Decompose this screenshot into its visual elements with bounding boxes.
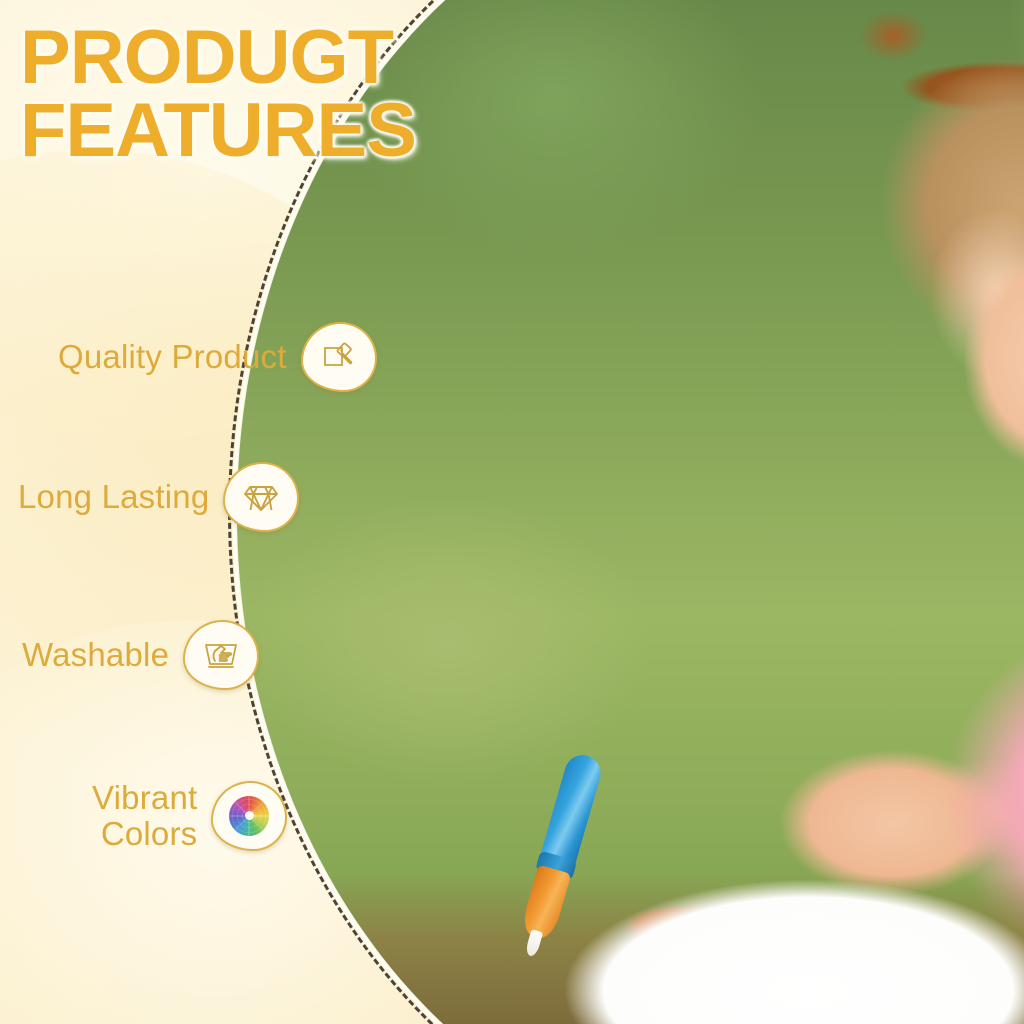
feature-label: Long Lasting [18, 479, 209, 516]
diamond-gem-icon [242, 479, 280, 515]
page-title-line-2: FEATURES [20, 95, 560, 168]
hand-wash-basin-icon [202, 636, 240, 674]
feature-badge[interactable] [211, 781, 287, 851]
feature-item-washable[interactable]: Washable [22, 620, 259, 690]
feature-label: Washable [22, 637, 169, 674]
product-features-infographic: PRODUGT FEATURES Quality Product Long La… [0, 0, 1024, 1024]
color-wheel-hub [245, 811, 254, 820]
feature-badge[interactable] [183, 620, 259, 690]
feature-label: Quality Product [58, 339, 287, 376]
page-title: PRODUGT FEATURES [20, 22, 560, 168]
feature-badge[interactable] [301, 322, 377, 392]
feature-item-vibrant-colors[interactable]: Vibrant Colors [92, 780, 287, 851]
color-wheel-icon [229, 796, 269, 836]
feature-item-long-lasting[interactable]: Long Lasting [18, 462, 299, 532]
feature-label: Vibrant Colors [92, 780, 197, 851]
feature-badge[interactable] [223, 462, 299, 532]
feature-item-quality-product[interactable]: Quality Product [58, 322, 377, 392]
paintbrush-canvas-icon [320, 338, 358, 376]
